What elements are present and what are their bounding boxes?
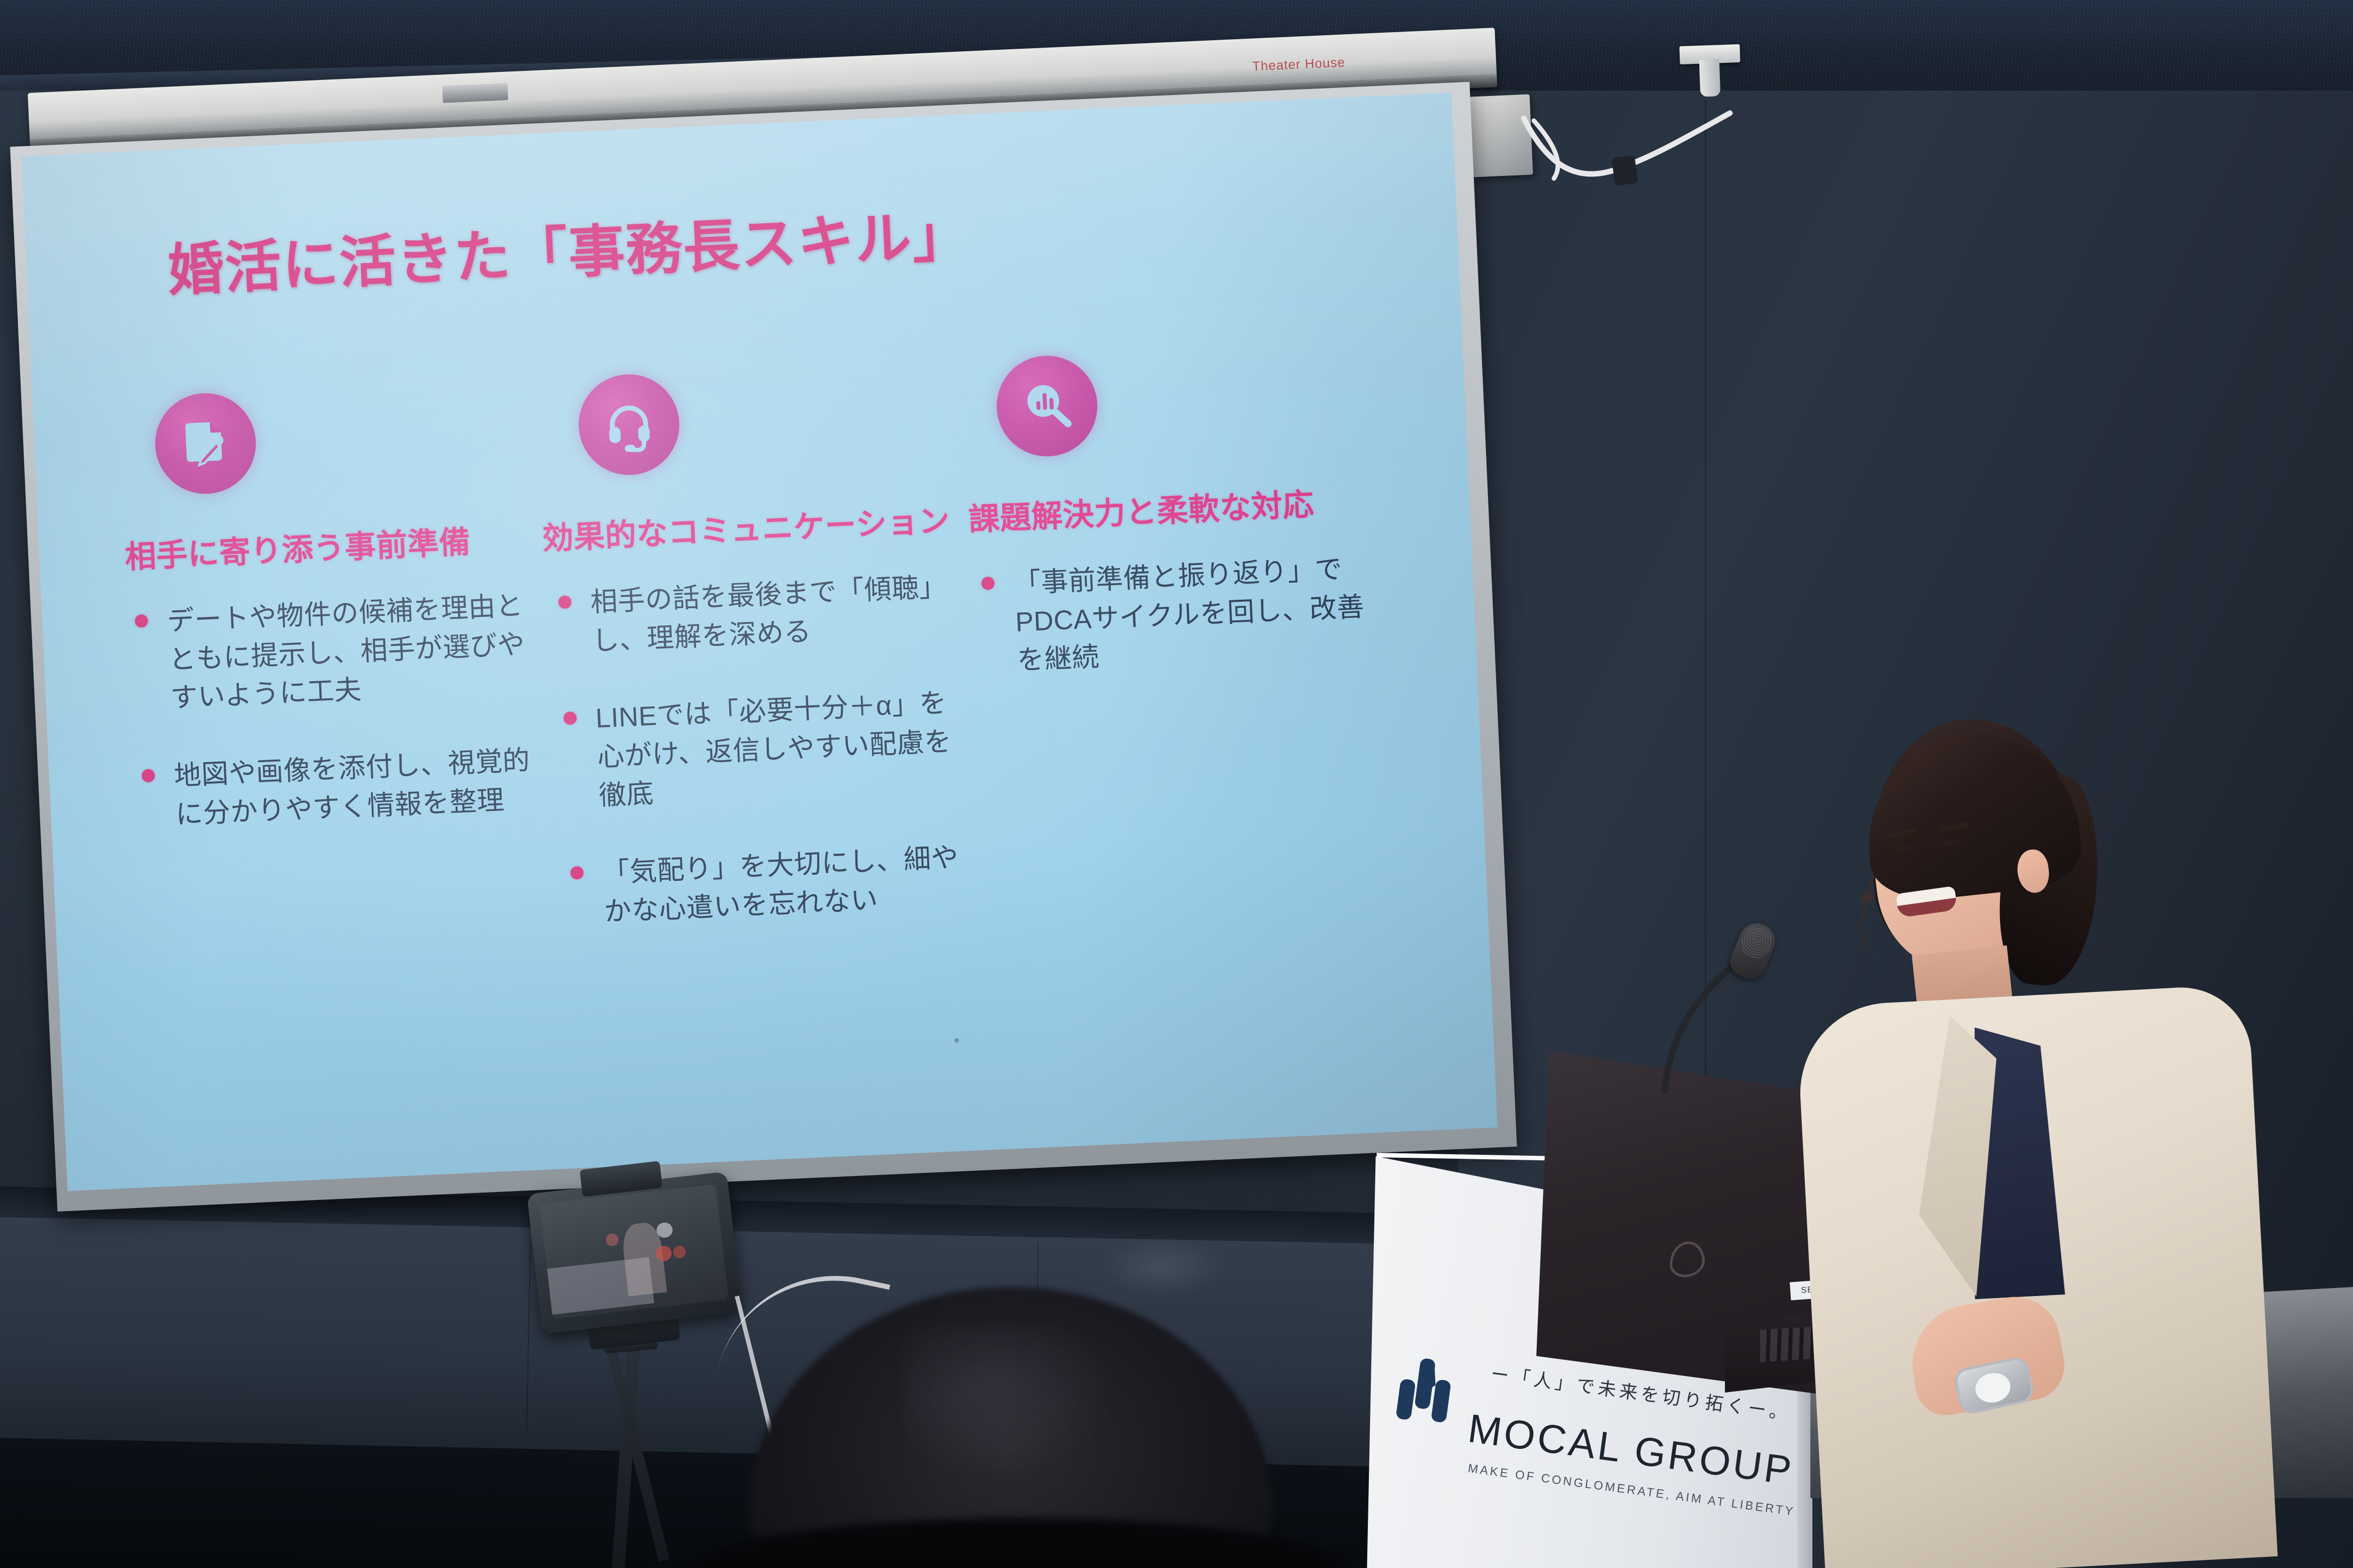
gooseneck-microphone-stem	[1649, 925, 1800, 1096]
list-item: 「気配り」を大切にし、細やかな心遣いを忘れない	[562, 838, 968, 933]
column-2-bullets: 相手の話を最後まで「傾聴」し、理解を深める LINEでは「必要十分＋α」を心がけ…	[550, 567, 968, 933]
presenter-hair-front	[1858, 723, 2084, 905]
slide-columns: 相手に寄り添う事前準備 デートや物件の候補を理由とともに提示し、相手が選びやすい…	[108, 341, 1413, 992]
slide-column-3: 課題解決力と柔軟な対応 「事前準備と振り返り」でPDCAサイクルを回し、改善を継…	[961, 341, 1413, 954]
presenter	[1790, 714, 2353, 1568]
list-item: 相手の話を最後まで「傾聴」し、理解を深める	[550, 567, 956, 662]
preview-highlight	[673, 1245, 686, 1259]
power-cable	[1519, 108, 1735, 209]
cable-hook-stem	[1699, 59, 1721, 97]
audience-hair-highlight	[905, 1327, 1116, 1478]
list-item: LINEでは「必要十分＋α」を心がけ、返信しやすい配慮を徹底	[556, 684, 963, 817]
document-pencil-icon	[153, 391, 258, 496]
list-item: 地図や画像を添付し、視覚的に分かりやすく情報を整理	[134, 741, 537, 836]
presentation-room-photo: Theater House 婚活に活きた「事務長スキル」	[0, 0, 2353, 1568]
column-2-heading: 効果的なコミュニケーション	[541, 495, 951, 559]
mocal-m-icon	[1393, 1352, 1462, 1430]
slide-title: 婚活に活きた「事務長スキル」	[165, 171, 1383, 307]
lens-flare	[1096, 1237, 1227, 1297]
projected-slide-surface: 婚活に活きた「事務長スキル」 相手に寄り添う事前準備	[22, 93, 1498, 1191]
housing-mount-bracket	[442, 83, 508, 103]
projection-screen: 婚活に活きた「事務長スキル」 相手に寄り添う事前準備	[10, 82, 1517, 1212]
slide-column-2: 効果的なコミュニケーション 相手の話を最後まで「傾聴」し、理解を深める LINE…	[534, 359, 987, 972]
column-3-heading: 課題解決力と柔軟な対応	[968, 476, 1378, 539]
column-3-bullets: 「事前準備と振り返り」でPDCAサイクルを回し、改善を継続	[974, 548, 1384, 682]
column-1-heading: 相手に寄り添う事前準備	[124, 514, 525, 577]
column-1-bullets: デートや物件の候補を理由とともに提示し、相手が選びやすいように工夫 地図や画像を…	[127, 586, 537, 836]
preview-highlight	[605, 1233, 619, 1247]
screen-brand-label: Theater House	[1252, 54, 1345, 74]
smartphone-preview-screen[interactable]	[540, 1184, 729, 1319]
slide-column-1: 相手に寄り添う事前準備 デートや物件の候補を理由とともに提示し、相手が選びやすい…	[108, 379, 560, 991]
slide-content: 婚活に活きた「事務長スキル」 相手に寄り添う事前準備	[22, 93, 1498, 1191]
list-item: 「事前準備と振り返り」でPDCAサイクルを回し、改善を継続	[974, 548, 1384, 682]
magnifier-barchart-icon	[995, 353, 1100, 458]
list-item: デートや物件の候補を理由とともに提示し、相手が選びやすいように工夫	[127, 586, 532, 719]
headset-icon	[576, 372, 681, 477]
